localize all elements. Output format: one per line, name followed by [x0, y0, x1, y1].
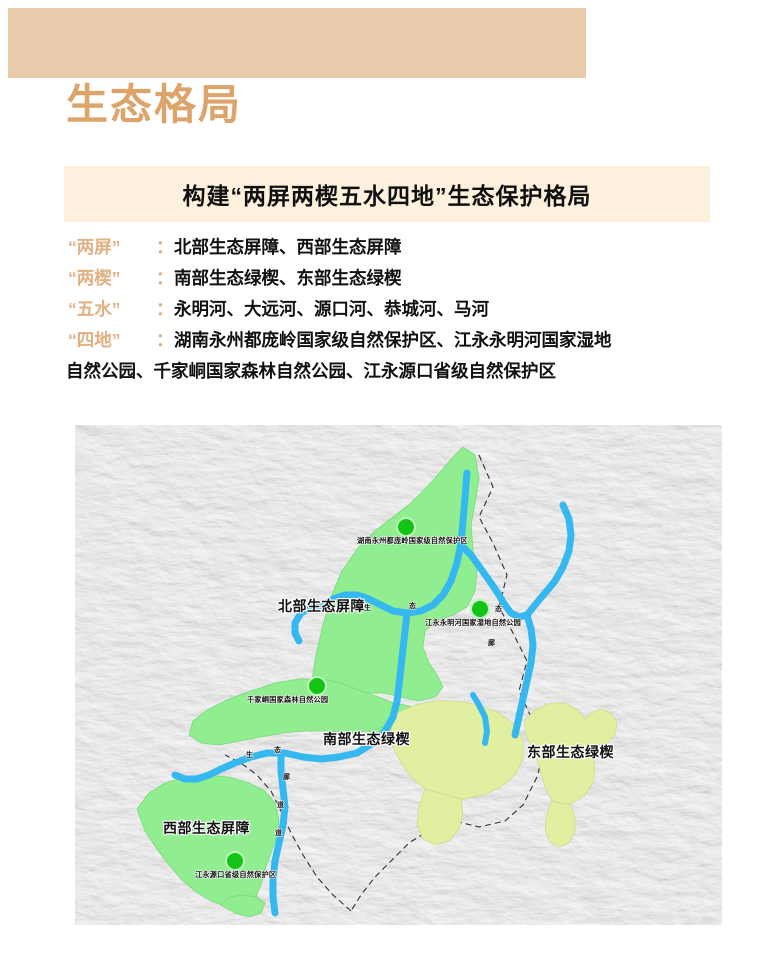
bullet-key: “五水” [68, 294, 156, 325]
bullet-row: “两屏”：北部生态屏障、西部生态屏障 [68, 232, 768, 263]
bullet-continuation: 自然公园、千家峒国家森林自然公园、江永源口省级自然保护区 [66, 356, 768, 387]
bullet-row: “五水”：永明河、大远河、源口河、恭城河、马河 [68, 294, 768, 325]
bullet-colon: ： [156, 325, 174, 356]
header-band [8, 8, 586, 78]
ecological-pattern-map[interactable]: 北部生态屏障 南部生态绿楔 东部生态绿楔 西部生态屏障 湖南永州都庞岭国家级自然… [75, 425, 722, 925]
bullet-key: “四地” [68, 325, 156, 356]
bullet-colon: ： [156, 263, 174, 294]
bullet-list: “两屏”：北部生态屏障、西部生态屏障 “两楔”：南部生态绿楔、东部生态绿楔 “五… [68, 232, 768, 387]
bullet-value: 湖南永州都庞岭国家级自然保护区、江永永明河国家湿地 [174, 330, 612, 350]
subtitle-banner: 构建“两屏两楔五水四地”生态保护格局 [64, 166, 710, 222]
bullet-row: “四地”：湖南永州都庞岭国家级自然保护区、江永永明河国家湿地 [68, 325, 768, 356]
subtitle-text: 构建“两屏两楔五水四地”生态保护格局 [183, 177, 592, 211]
bullet-value: 永明河、大远河、源口河、恭城河、马河 [174, 299, 489, 319]
yongminghe-wetland-park-marker-icon[interactable] [470, 599, 490, 619]
ecological-pattern-page: 生态格局 构建“两屏两楔五水四地”生态保护格局 “两屏”：北部生态屏障、西部生态… [0, 0, 776, 960]
map-canvas [75, 425, 722, 925]
yuankou-nature-reserve-marker-icon[interactable] [225, 851, 245, 871]
bullet-colon: ： [156, 294, 174, 325]
bullet-value: 南部生态绿楔、东部生态绿楔 [174, 268, 402, 288]
dupangling-nature-reserve-marker-icon[interactable] [396, 517, 416, 537]
bullet-value: 北部生态屏障、西部生态屏障 [174, 237, 402, 257]
bullet-colon: ： [156, 232, 174, 263]
bullet-key: “两屏” [68, 232, 156, 263]
qianjiadong-forest-park-marker-icon[interactable] [307, 676, 327, 696]
page-title: 生态格局 [66, 82, 242, 128]
zone-east-wedge-tail [545, 801, 575, 847]
bullet-key: “两楔” [68, 263, 156, 294]
bullet-row: “两楔”：南部生态绿楔、东部生态绿楔 [68, 263, 768, 294]
